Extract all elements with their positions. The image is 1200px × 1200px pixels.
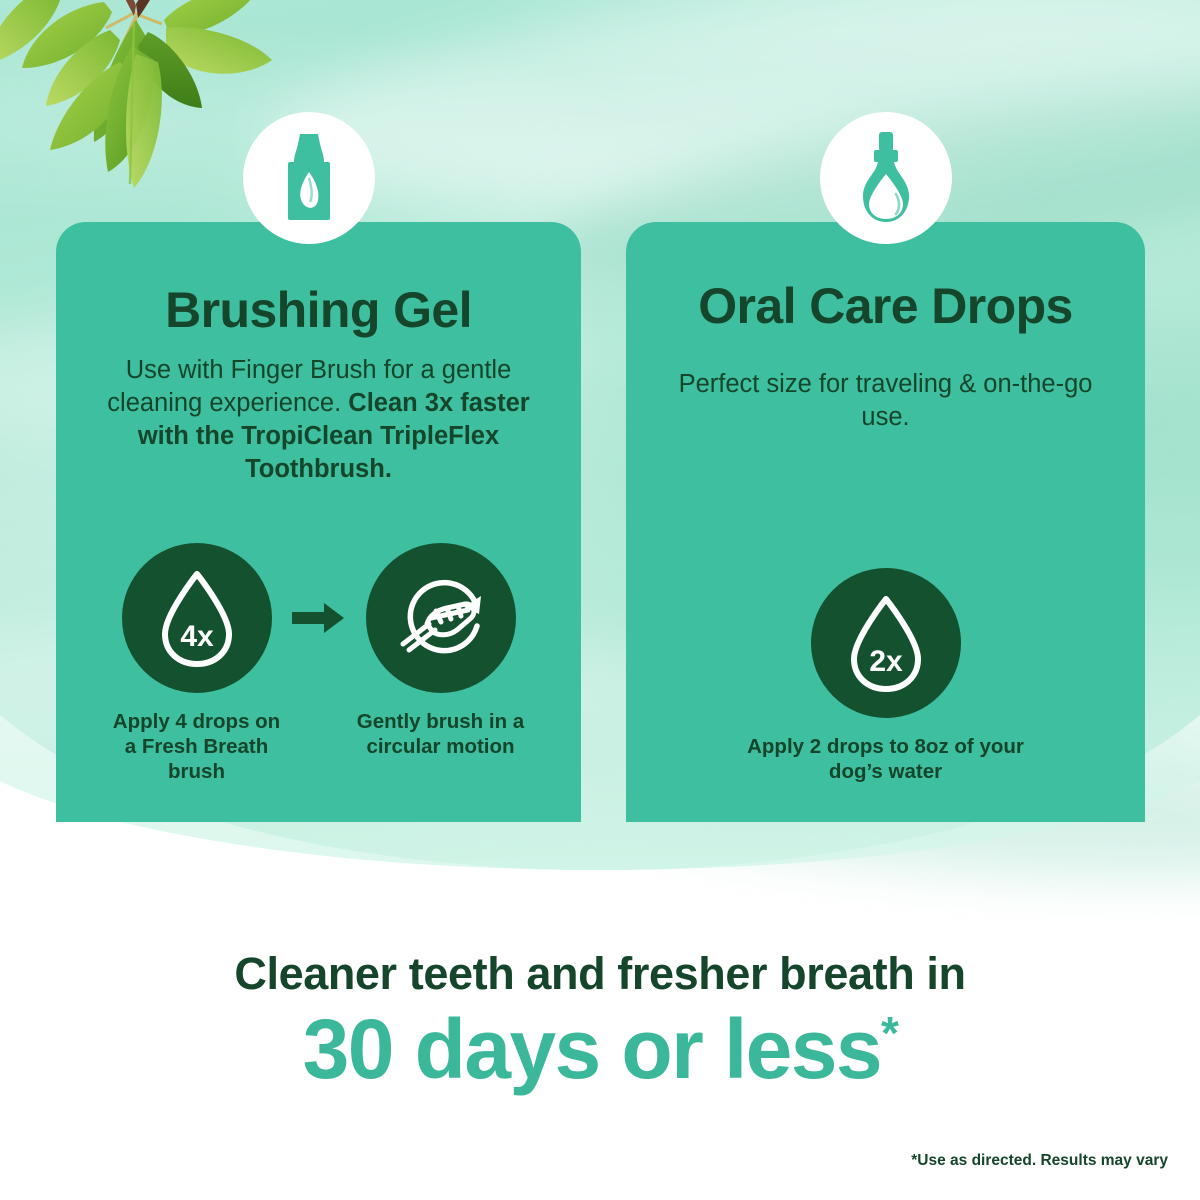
dropper-bottle-icon (851, 130, 921, 226)
card-title-oral-care-drops: Oral Care Drops (626, 280, 1145, 332)
footer-line-2: 30 days or less* (0, 1004, 1200, 1095)
toothbrush-circle (366, 543, 516, 693)
card-description-brushing-gel: Use with Finger Brush for a gentle clean… (56, 354, 581, 487)
footer-line-2-text: 30 days or less (303, 1002, 881, 1096)
droplet-4x-icon: 4x (151, 566, 243, 670)
droplet-4x-value: 4x (180, 620, 214, 653)
steps-oral-care-drops: 2x Apply 2 drops to 8oz of your dog’s wa… (626, 568, 1145, 784)
gel-tube-icon (276, 132, 342, 224)
droplet-2x-circle: 2x (811, 568, 961, 718)
toothbrush-circular-motion-icon (389, 566, 493, 670)
badge-brushing-gel (243, 112, 375, 244)
infographic-canvas: Brushing Gel Use with Finger Brush for a… (0, 0, 1200, 1200)
badge-oral-care-drops (820, 112, 952, 244)
card-oral-care-drops: Oral Care Drops Perfect size for traveli… (626, 222, 1145, 822)
card-brushing-gel: Brushing Gel Use with Finger Brush for a… (56, 222, 581, 822)
card-description-oral-care-drops: Perfect size for traveling & on-the-go u… (626, 368, 1145, 434)
step-apply-drops-water: 2x Apply 2 drops to 8oz of your dog’s wa… (721, 568, 1051, 784)
step-caption-brush-circular: Gently brush in a circular motion (350, 709, 532, 759)
footer-headline: Cleaner teeth and fresher breath in 30 d… (0, 948, 1200, 1095)
card-title-brushing-gel: Brushing Gel (56, 284, 581, 336)
droplet-4x-circle: 4x (122, 543, 272, 693)
arrow-right-icon (288, 601, 350, 635)
droplet-2x-icon: 2x (840, 591, 932, 695)
step-caption-apply-drops: Apply 4 drops on a Fresh Breath brush (106, 709, 288, 784)
droplet-2x-value: 2x (869, 645, 903, 678)
step-brush-circular: Gently brush in a circular motion (350, 543, 532, 759)
footer-line-1: Cleaner teeth and fresher breath in (0, 948, 1200, 1000)
step-apply-drops: 4x Apply 4 drops on a Fresh Breath brush (106, 543, 288, 784)
steps-brushing-gel: 4x Apply 4 drops on a Fresh Breath brush (56, 543, 581, 784)
disclaimer-text: *Use as directed. Results may vary (911, 1152, 1168, 1170)
footer-asterisk: * (881, 1007, 897, 1059)
step-caption-apply-drops-water: Apply 2 drops to 8oz of your dog’s water (721, 734, 1051, 784)
